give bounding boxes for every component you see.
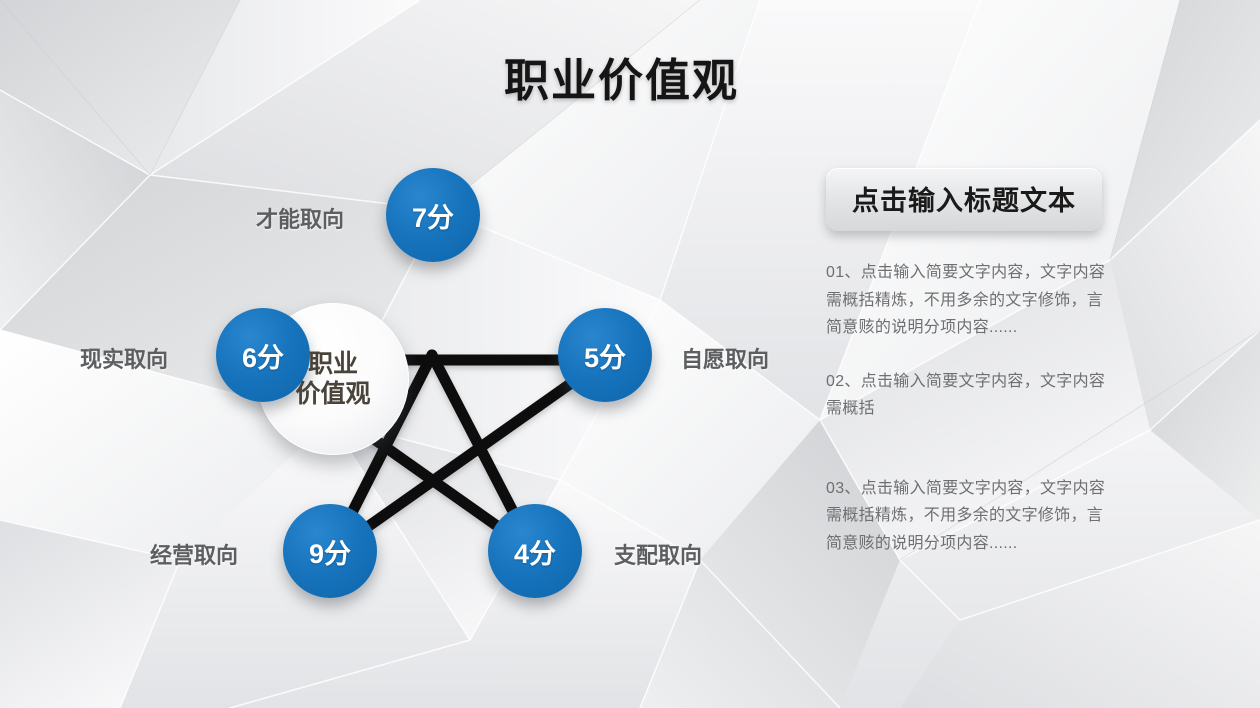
node-left-value: 6分	[242, 336, 284, 375]
center-node-line2: 价值观	[295, 379, 370, 410]
node-top-value: 7分	[412, 196, 454, 235]
node-bottom-left-value: 9分	[309, 532, 351, 571]
node-bottom-right-score[interactable]: 4分	[488, 504, 582, 598]
node-top-score[interactable]: 7分	[386, 168, 480, 262]
label-left: 现实取向	[80, 342, 168, 374]
node-right-value: 5分	[584, 336, 626, 375]
headline-box[interactable]: 点击输入标题文本	[826, 168, 1102, 231]
label-top: 才能取向	[256, 202, 344, 234]
center-node-line1: 职业	[308, 349, 358, 380]
node-bottom-right-value: 4分	[514, 532, 556, 571]
node-bottom-left-score[interactable]: 9分	[283, 504, 377, 598]
value-orientation-diagram: 职业 价值观 7分 5分 4分 9分 6分 才能取向 自愿取向 支配取向 经营取…	[40, 120, 800, 640]
headline-text: 点击输入标题文本	[852, 186, 1076, 216]
label-right: 自愿取向	[681, 342, 769, 374]
label-bottom-left: 经营取向	[150, 538, 238, 570]
label-bottom-right: 支配取向	[614, 538, 702, 570]
paragraph-01[interactable]: 01、点击输入简要文字内容，文字内容需概括精炼，不用多余的文字修饰，言简意赅的说…	[826, 259, 1116, 342]
node-right-score[interactable]: 5分	[558, 308, 652, 402]
paragraph-03[interactable]: 03、点击输入简要文字内容，文字内容需概括精炼，不用多余的文字修饰，言简意赅的说…	[826, 475, 1116, 558]
paragraph-02[interactable]: 02、点击输入简要文字内容，文字内容需概括	[826, 368, 1116, 423]
right-text-panel: 点击输入标题文本 01、点击输入简要文字内容，文字内容需概括精炼，不用多余的文字…	[826, 168, 1226, 557]
slide-canvas: 职业价值观 职业 价值观 7分	[0, 0, 1260, 708]
node-left-score[interactable]: 6分	[216, 308, 310, 402]
